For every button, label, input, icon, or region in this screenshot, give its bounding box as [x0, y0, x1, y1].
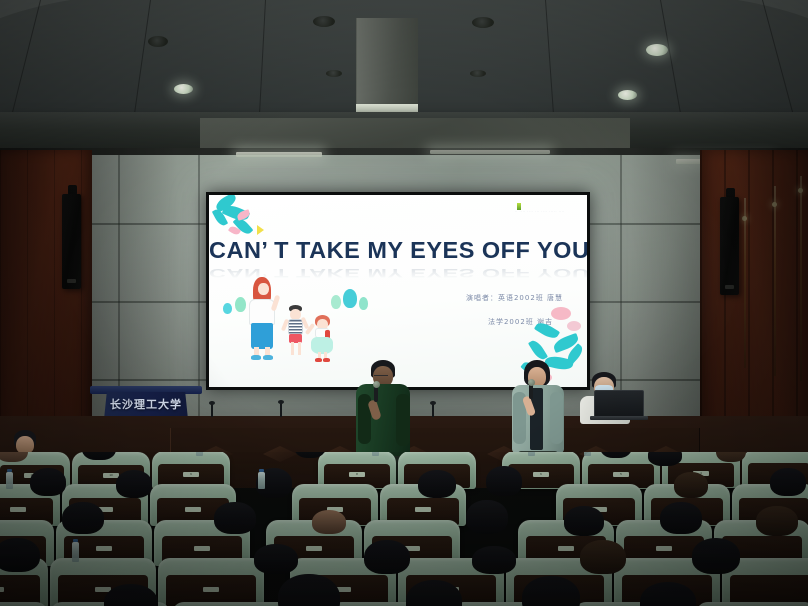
woman-shoe: [251, 355, 261, 360]
woman-arm: [271, 295, 281, 312]
audience-head: [30, 468, 66, 496]
flower-icon: [551, 307, 571, 320]
seat: [0, 602, 48, 606]
downlight-icon: [618, 90, 637, 100]
triangle-icon: [257, 225, 264, 235]
table-microphone-head: [430, 401, 436, 405]
audience-head: [214, 502, 256, 534]
laptop-base: [590, 416, 648, 420]
bush-icon: [235, 297, 246, 312]
seat: [696, 602, 808, 606]
laptop-screen: [594, 390, 644, 418]
seat: [172, 602, 292, 606]
table-microphone: [211, 404, 213, 417]
boy-leg: [298, 342, 301, 355]
downlight-icon: [326, 70, 342, 77]
boy-leg: [291, 342, 294, 355]
downlight-icon: [470, 70, 486, 77]
woman-shoe: [263, 355, 273, 360]
girl-skirt: [311, 337, 333, 354]
audience-head: [692, 538, 740, 574]
downlight-icon: [646, 44, 668, 56]
woman-pants: [251, 323, 273, 349]
singer-left-arm: [396, 394, 410, 446]
audience-head: [770, 468, 806, 496]
microphone-head: [528, 379, 535, 386]
water-bottle: [6, 472, 13, 489]
podium-institution-name: 长沙理工大学: [97, 396, 195, 412]
water-bottle: [258, 472, 265, 489]
downlight-icon: [148, 36, 168, 47]
presentation-slide: ·· ···· ···· ··· ···· ····· ···· CAN’ T …: [209, 195, 587, 387]
bush-icon: [359, 297, 368, 310]
boy-shirt: [288, 319, 303, 335]
downlight-icon: [472, 17, 494, 28]
water-bottle: [72, 542, 79, 562]
water-bottle: [196, 452, 203, 456]
bush-icon: [223, 303, 232, 314]
audience-head: [254, 544, 298, 574]
bush-icon: [343, 289, 357, 308]
audience-head: [116, 470, 152, 498]
girl-shoe: [315, 358, 322, 362]
singer-right-arm: [550, 392, 563, 444]
audience-seating: 11 10 9 8 7 6 5 4: [0, 452, 808, 606]
audience-head: [648, 452, 682, 466]
microphone: [374, 386, 378, 402]
bottle-cap: [7, 469, 12, 472]
table-microphone-head: [278, 400, 284, 404]
glasses-icon: [374, 375, 388, 378]
water-bottle: [584, 452, 591, 456]
woman-face: [258, 283, 269, 295]
slide-title: CAN’ T TAKE MY EYES OFF YOU: [209, 237, 587, 264]
audience-head: [418, 470, 456, 498]
slide-credit-performer: 演唱者：英语2002班 唐慧: [466, 293, 563, 303]
table-microphone-head: [209, 401, 215, 405]
audience-head: [62, 502, 104, 534]
audience-head: [486, 466, 522, 496]
girl-shoe: [323, 358, 330, 362]
water-bottle: [528, 452, 535, 456]
bottle-cap: [259, 469, 264, 472]
seat: [158, 558, 264, 606]
audience-head: [364, 540, 410, 574]
audience-head: [564, 506, 604, 536]
table-microphone: [432, 404, 434, 417]
auditorium-photo: ·· ···· ···· ··· ···· ····· ···· CAN’ T …: [0, 0, 808, 606]
projector-housing: [356, 18, 418, 110]
audience-head: [466, 500, 508, 534]
audience-head: [674, 472, 708, 498]
audience-head: [312, 510, 346, 534]
audience-head: [580, 540, 626, 574]
bush-icon: [331, 295, 341, 309]
water-bottle: [372, 452, 379, 456]
microphone: [529, 384, 533, 399]
audience-head: [660, 502, 702, 534]
audience-head: [756, 506, 798, 536]
downlight-icon: [174, 84, 193, 94]
audience-head: [0, 538, 40, 572]
flower-icon: [567, 321, 581, 331]
table-microphone: [280, 403, 282, 417]
slide-tiny-header: ·· ···· ···· ··· ···· ····· ····: [515, 209, 565, 213]
downlight-icon: [313, 16, 335, 27]
bottle-cap: [73, 539, 78, 542]
woman-top: [249, 299, 275, 325]
microphone-head: [373, 381, 380, 388]
audience-head: [472, 546, 516, 574]
